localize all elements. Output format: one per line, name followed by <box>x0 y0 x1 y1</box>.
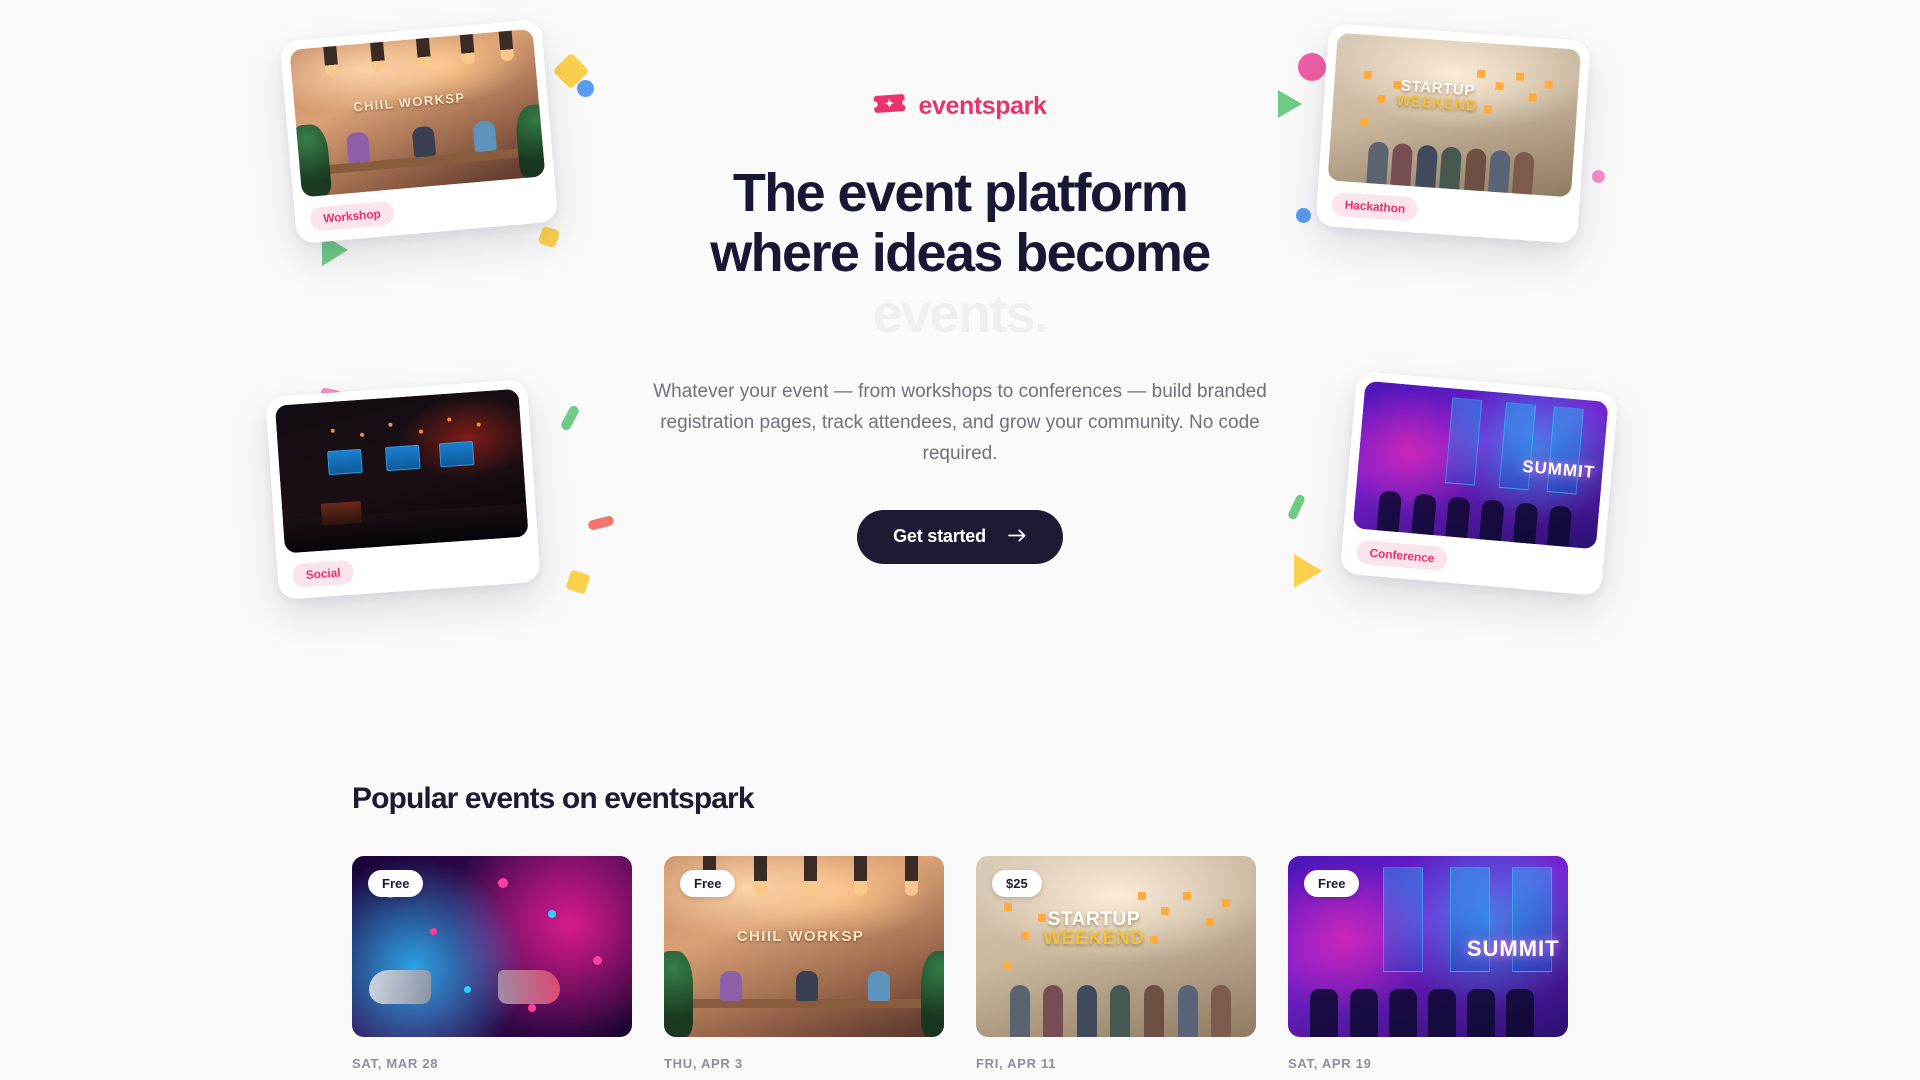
event-thumbnail: SUMMIT Free <box>1288 856 1568 1037</box>
event-card[interactable]: Free SAT, MAR 28 AI hackathon <box>352 856 632 1080</box>
decor-circle-blue-midleft <box>1296 208 1311 223</box>
event-price-badge: Free <box>680 870 735 897</box>
decor-circle-blue-topleft <box>577 80 594 97</box>
workshop-artwork: CHIIL WORKSP <box>289 29 545 198</box>
floating-card-thumbnail: CHIIL WORKSP <box>289 29 545 198</box>
event-date: SAT, APR 19 <box>1288 1056 1568 1071</box>
get-started-label: Get started <box>893 526 986 547</box>
decor-bar-coral-social <box>587 515 615 531</box>
event-date: SAT, MAR 28 <box>352 1056 632 1071</box>
event-price-badge: Free <box>1304 870 1359 897</box>
event-thumbnail: CHIIL WORKSP Free <box>664 856 944 1037</box>
floating-card-workshop[interactable]: CHIIL WORKSP Workshop <box>280 19 559 244</box>
decor-square-yellow-social <box>565 569 590 594</box>
event-date: THU, APR 3 <box>664 1056 944 1071</box>
floating-card-social[interactable]: Social <box>265 379 541 600</box>
headline-line-3: events. <box>650 284 1270 344</box>
conference-screen-text: SUMMIT <box>1467 936 1560 962</box>
get-started-button[interactable]: Get started <box>857 510 1063 564</box>
conference-artwork: SUMMIT <box>1353 381 1609 550</box>
decor-triangle-green-topright <box>1278 90 1302 118</box>
decor-triangle-yellow-conference <box>1294 554 1322 588</box>
cta-container: Get started <box>650 510 1270 564</box>
event-card[interactable]: CHIIL WORKSP Free THU, APR 3 Chill works… <box>664 856 944 1080</box>
workshop-wall-sign: CHIIL WORKSP <box>737 928 864 945</box>
floating-card-conference[interactable]: SUMMIT Conference <box>1340 371 1619 596</box>
decor-circle-rose-right <box>1592 170 1605 183</box>
decor-bar-green-conference <box>1287 493 1306 520</box>
hero-content: eventspark The event platform where idea… <box>650 92 1270 564</box>
hero-subheadline: Whatever your event — from workshops to … <box>650 377 1270 469</box>
page-title: The event platform where ideas become ev… <box>650 163 1270 344</box>
popular-events-section: Popular events on eventspark <box>0 700 1920 1080</box>
headline-line-1: The event platform <box>650 163 1270 223</box>
floating-card-badge: Workshop <box>309 201 394 232</box>
event-thumbnail: Free <box>352 856 632 1037</box>
floating-card-thumbnail <box>275 389 529 554</box>
event-card[interactable]: STARTUPWEEKEND $25 FRI, APR 11 Startup w… <box>976 856 1256 1080</box>
conference-screen-text: SUMMIT <box>1521 457 1596 483</box>
decor-circle-pink-topright <box>1298 53 1326 81</box>
floating-card-badge: Social <box>292 560 354 588</box>
event-thumbnail: STARTUPWEEKEND $25 <box>976 856 1256 1037</box>
hackathon-artwork: STARTUPWEEKEND <box>1327 33 1581 198</box>
arrow-right-icon <box>1008 526 1027 547</box>
decor-square-yellow-midleft <box>537 225 560 248</box>
floating-card-thumbnail: SUMMIT <box>1353 381 1609 550</box>
ticket-icon <box>873 93 907 120</box>
floating-card-hackathon[interactable]: STARTUPWEEKEND Hackathon <box>1315 23 1591 244</box>
decor-bar-green-social <box>559 404 580 432</box>
hackathon-wall-sign: STARTUPWEEKEND <box>1043 910 1144 948</box>
event-price-badge: $25 <box>992 870 1042 897</box>
floating-card-badge: Conference <box>1356 540 1449 572</box>
event-price-badge: Free <box>368 870 423 897</box>
section-title: Popular events on eventspark <box>352 700 1568 816</box>
brand-logo[interactable]: eventspark <box>650 92 1270 121</box>
floating-card-badge: Hackathon <box>1331 192 1419 222</box>
floating-card-thumbnail: STARTUPWEEKEND <box>1327 33 1581 198</box>
brand-name: eventspark <box>918 92 1046 121</box>
events-grid: Free SAT, MAR 28 AI hackathon CHIIL WORK… <box>352 856 1568 1080</box>
hackathon-wall-sign: STARTUPWEEKEND <box>1396 78 1479 114</box>
hero-section: CHIIL WORKSP Workshop STARTUPWEEKEND <box>0 0 1920 700</box>
event-card[interactable]: SUMMIT Free SAT, APR 19 Mikro dia commun… <box>1288 856 1568 1080</box>
headline-line-2: where ideas become <box>650 223 1270 283</box>
workshop-wall-sign: CHIIL WORKSP <box>352 90 466 115</box>
social-artwork <box>275 389 529 554</box>
event-date: FRI, APR 11 <box>976 1056 1256 1071</box>
